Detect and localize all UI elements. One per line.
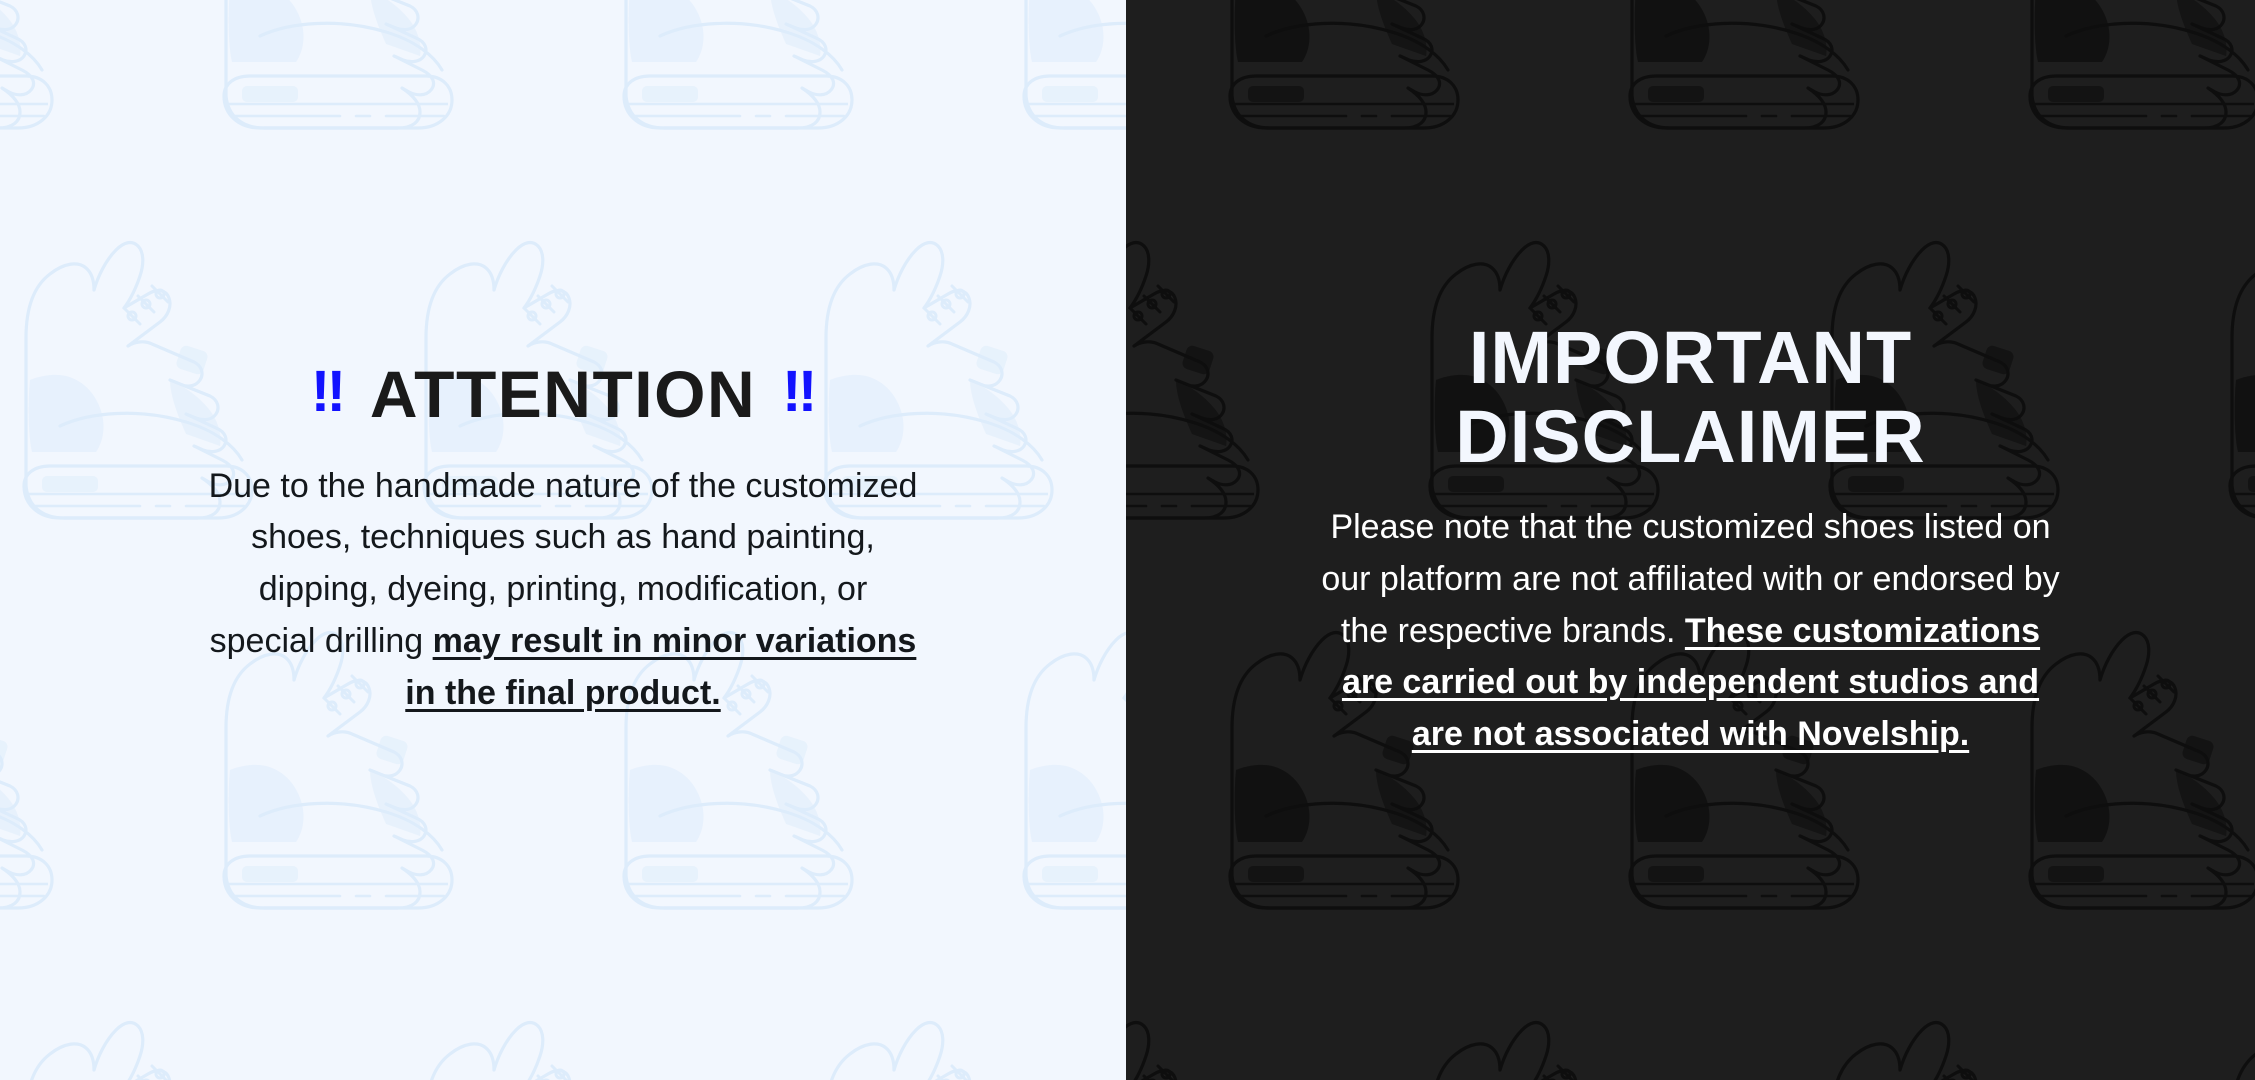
disclaimer-panel: IMPORTANT DISCLAIMER Please note that th… [1126,0,2255,1080]
attention-heading-word: ATTENTION [370,361,756,427]
double-exclamation-icon-right: ‼ [782,363,815,421]
attention-panel: ‼ ATTENTION ‼ Due to the handmade nature… [0,0,1126,1080]
disclaimer-heading: IMPORTANT DISCLAIMER [1126,319,2255,476]
attention-content: ‼ ATTENTION ‼ Due to the handmade nature… [0,361,1126,719]
attention-body-text: Due to the handmade nature of the custom… [203,461,923,719]
disclaimer-banner: ‼ ATTENTION ‼ Due to the handmade nature… [0,0,2255,1080]
double-exclamation-icon-left: ‼ [311,363,344,421]
attention-body-emphasis: may result in minor variations in the fi… [405,622,916,712]
attention-heading: ‼ ATTENTION ‼ [0,361,1126,427]
disclaimer-body-text: Please note that the customized shoes li… [1321,502,2061,760]
disclaimer-heading-line-1: IMPORTANT [1126,319,2255,397]
disclaimer-content: IMPORTANT DISCLAIMER Please note that th… [1126,319,2255,760]
disclaimer-heading-line-2: DISCLAIMER [1126,398,2255,476]
